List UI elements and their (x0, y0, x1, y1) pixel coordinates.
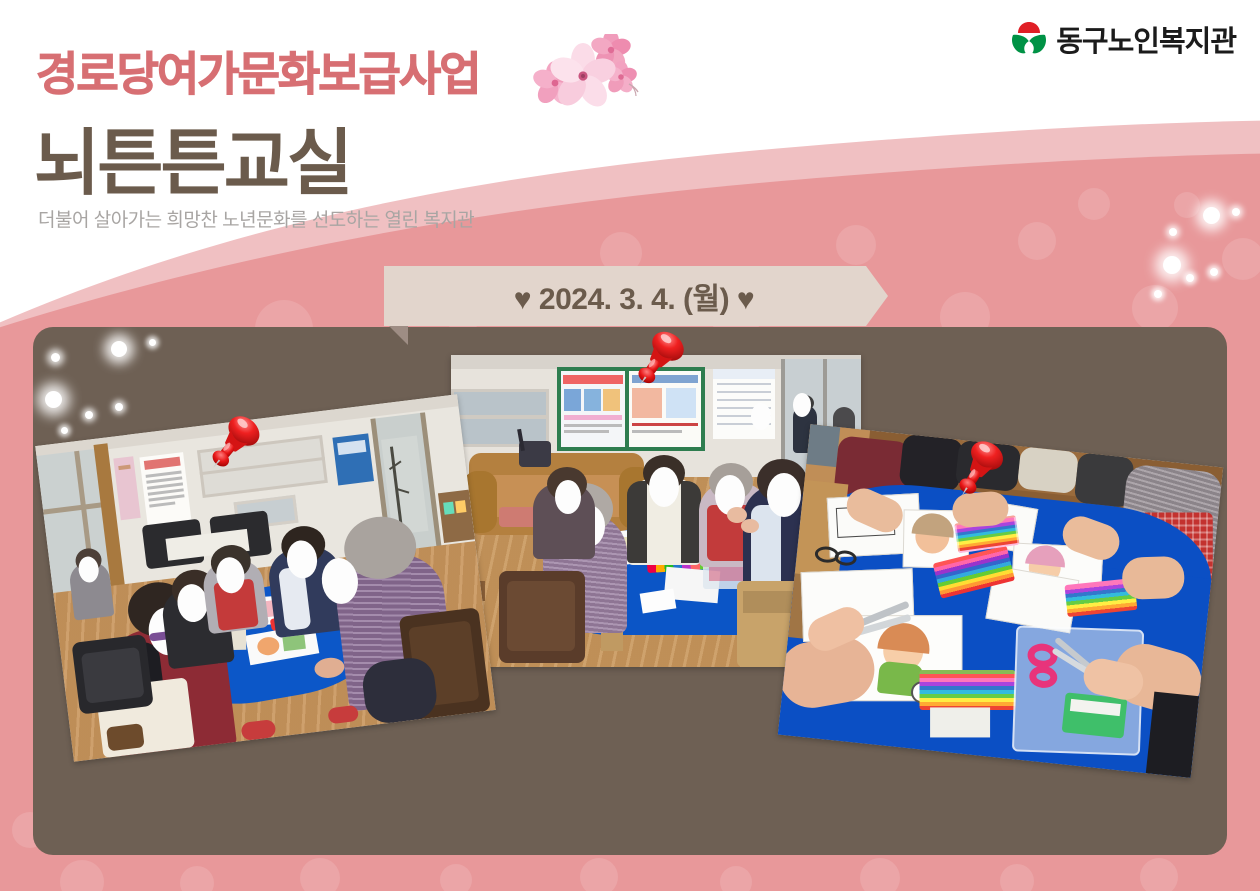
program-title: 경로당여가문화보급사업 (36, 38, 480, 104)
cherry-blossom-icon (533, 34, 645, 114)
photo-left (35, 394, 496, 761)
subtitle: 더불어 살아가는 희망찬 노년문화를 선도하는 열린 복지관 (38, 205, 474, 232)
sparkle-dot (149, 339, 156, 346)
photo-right (778, 424, 1223, 778)
sparkle-dot (61, 427, 68, 434)
date-text: ♥ 2024. 3. 4. (월) ♥ (384, 266, 884, 326)
bokeh-circle (300, 858, 340, 891)
sparkle-dot (111, 341, 127, 357)
sparkle-dot (85, 411, 93, 419)
welfare-center-emblem-icon (1009, 19, 1049, 59)
bokeh-circle (1000, 864, 1034, 891)
bokeh-circle (180, 866, 214, 891)
photo-panel (33, 327, 1227, 855)
bokeh-circle (580, 858, 618, 891)
date-banner: ♥ 2024. 3. 4. (월) ♥ (384, 266, 906, 326)
bokeh-circle (860, 858, 900, 891)
sparkle-dot (45, 391, 62, 408)
bokeh-circle (440, 864, 472, 891)
ribbon-body: ♥ 2024. 3. 4. (월) ♥ (384, 266, 906, 326)
bokeh-circle (60, 860, 104, 891)
bokeh-circle (720, 866, 752, 891)
bokeh-circle (1140, 858, 1178, 891)
organization-name: 동구노인복지관 (1056, 18, 1236, 60)
sparkle-dot (115, 403, 123, 411)
organization-logo: 동구노인복지관 (1009, 18, 1236, 60)
sparkle-dot (51, 353, 60, 362)
photo-right-scene (778, 424, 1223, 778)
photo-left-scene (35, 394, 496, 761)
slide-canvas: 경로당여가문화보급사업 (0, 0, 1260, 891)
page-title: 뇌튼튼교실 (34, 104, 350, 209)
